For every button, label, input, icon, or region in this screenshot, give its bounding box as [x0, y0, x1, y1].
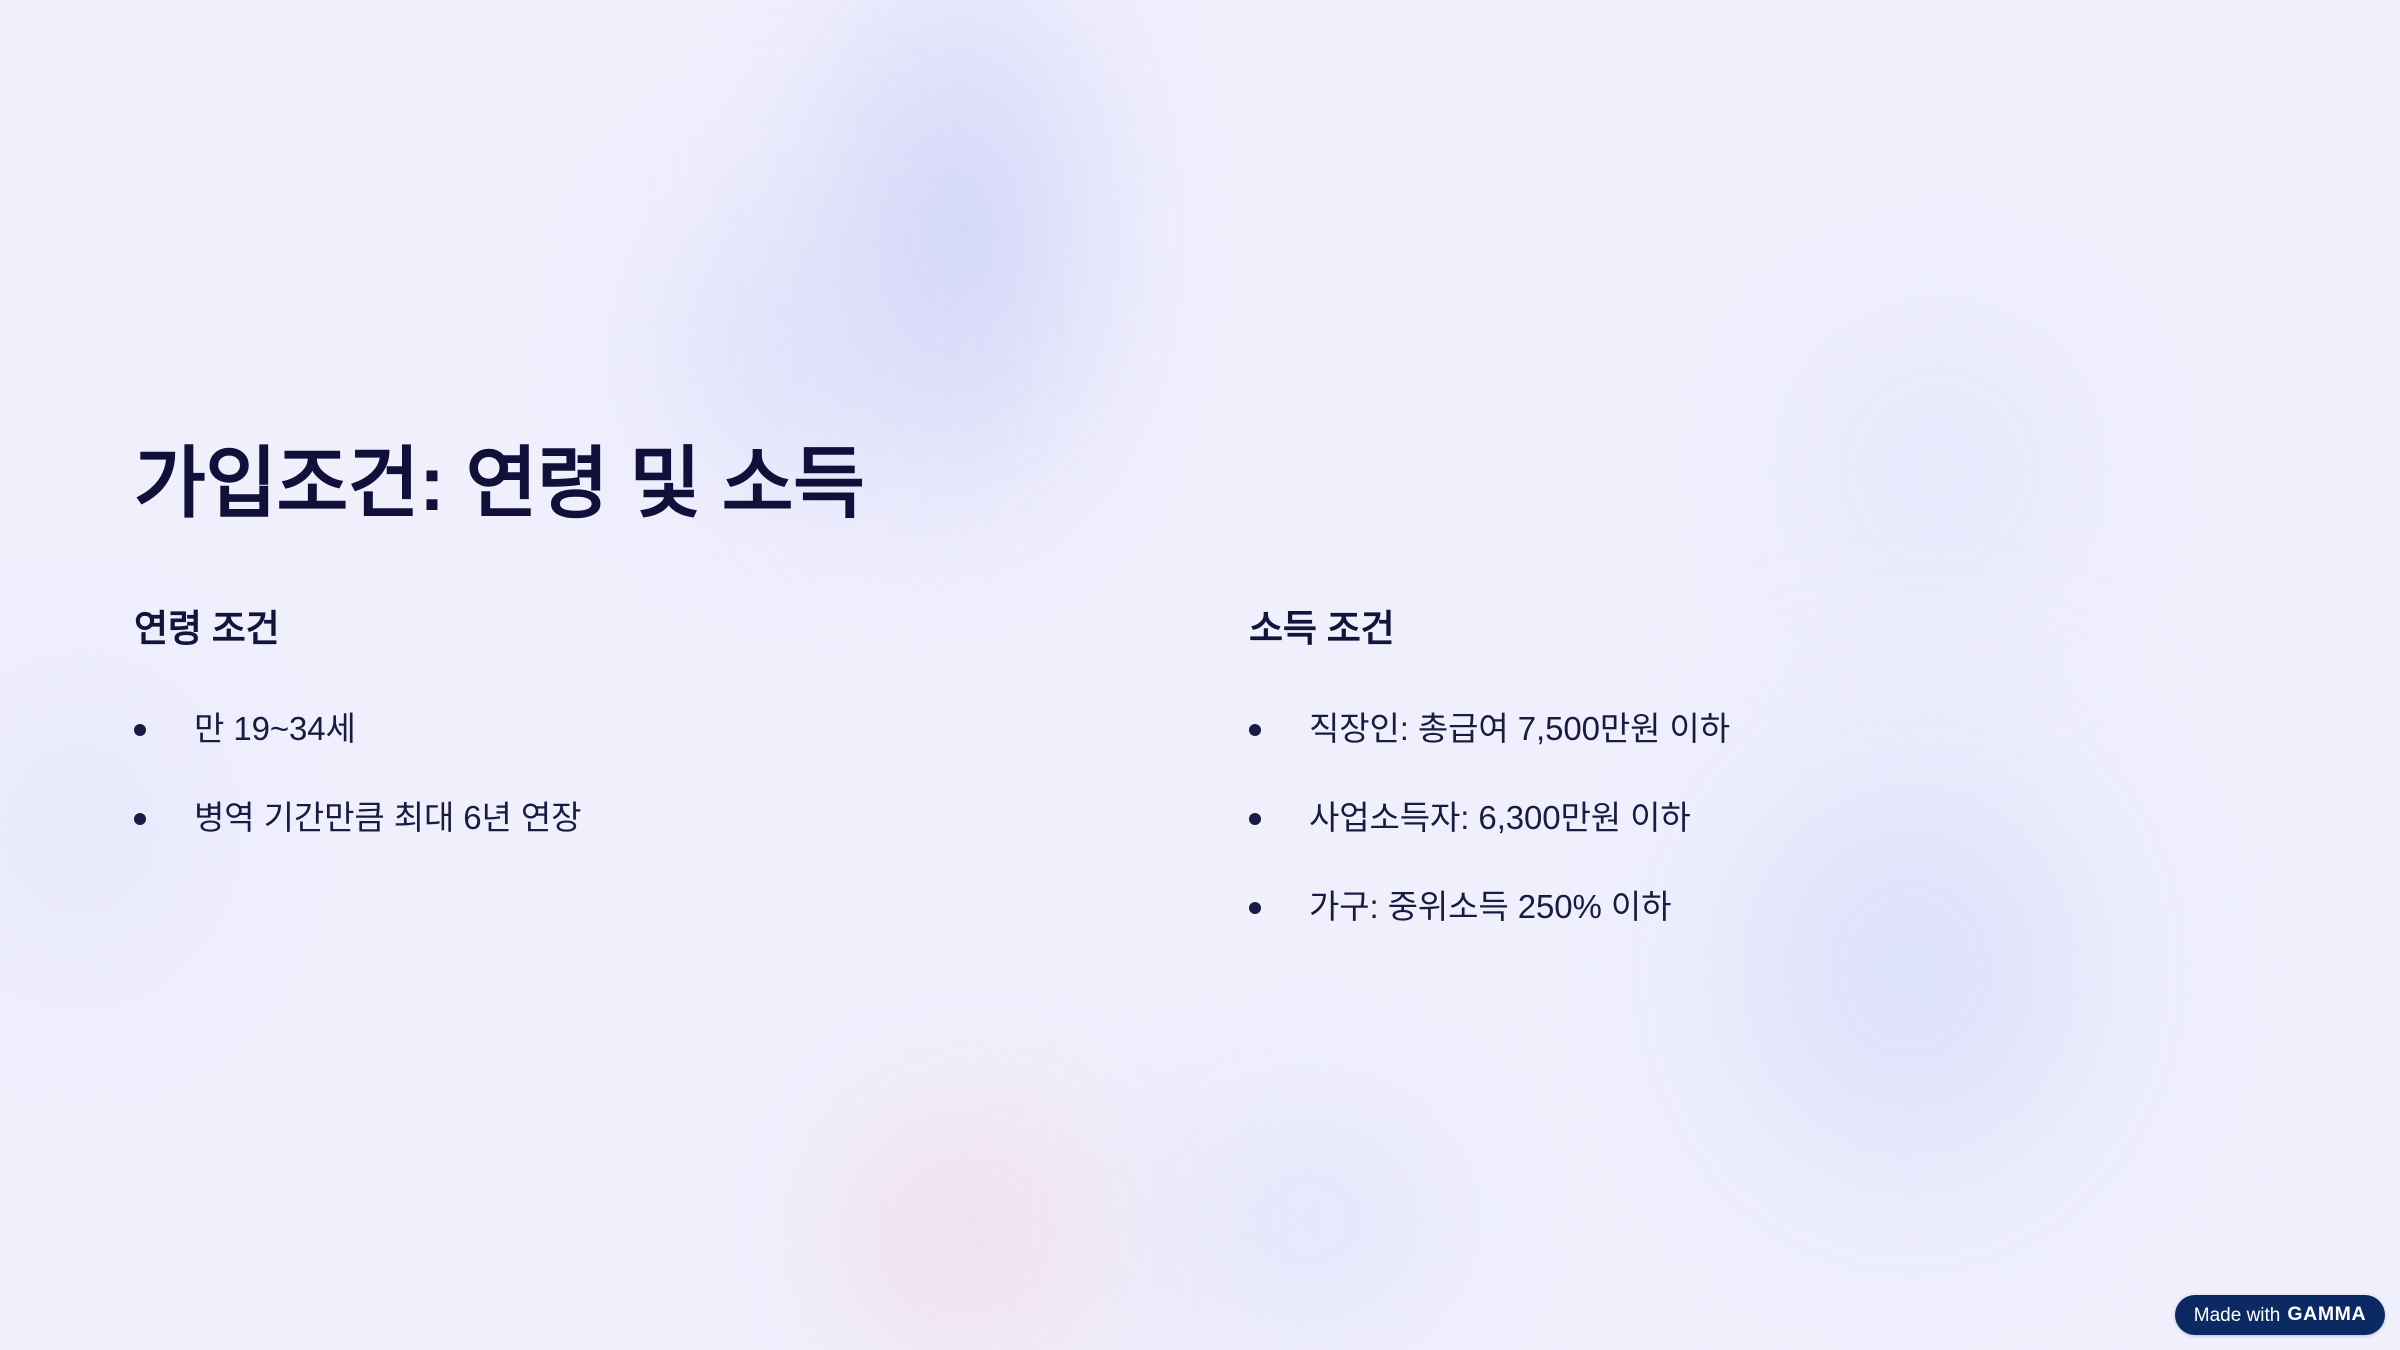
bullet-dot-icon	[1249, 902, 1261, 914]
list-item: 가구: 중위소득 250% 이하	[1249, 883, 2364, 931]
made-with-gamma-badge[interactable]: Made with GAMMA	[2175, 1295, 2385, 1335]
bullet-dot-icon	[1249, 724, 1261, 736]
bullet-list-income: 직장인: 총급여 7,500만원 이하 사업소득자: 6,300만원 이하 가구…	[1249, 705, 2364, 931]
list-item-label: 사업소득자: 6,300만원 이하	[1261, 794, 1691, 842]
list-item: 만 19~34세	[134, 705, 1249, 753]
bullet-list-age: 만 19~34세 병역 기간만큼 최대 6년 연장	[134, 705, 1249, 842]
column-heading-income: 소득 조건	[1249, 605, 2364, 653]
column-heading-age: 연령 조건	[134, 605, 1249, 653]
column-age-conditions: 연령 조건 만 19~34세 병역 기간만큼 최대 6년 연장	[134, 605, 1249, 931]
slide-canvas: 가입조건: 연령 및 소득 연령 조건 만 19~34세 병역 기간만큼 최대 …	[0, 0, 2400, 1350]
list-item-label: 직장인: 총급여 7,500만원 이하	[1261, 705, 1730, 753]
list-item: 병역 기간만큼 최대 6년 연장	[134, 794, 1249, 842]
gamma-logo-wordmark: GAMMA	[2287, 1305, 2366, 1325]
bullet-dot-icon	[1249, 813, 1261, 825]
badge-made-with-label: Made with	[2194, 1306, 2281, 1325]
list-item-label: 가구: 중위소득 250% 이하	[1261, 883, 1671, 931]
list-item-label: 병역 기간만큼 최대 6년 연장	[146, 794, 581, 842]
column-income-conditions: 소득 조건 직장인: 총급여 7,500만원 이하 사업소득자: 6,300만원…	[1249, 605, 2364, 931]
slide-content: 가입조건: 연령 및 소득 연령 조건 만 19~34세 병역 기간만큼 최대 …	[0, 0, 2400, 1350]
two-column-layout: 연령 조건 만 19~34세 병역 기간만큼 최대 6년 연장 소득 조건	[134, 605, 2264, 931]
list-item: 직장인: 총급여 7,500만원 이하	[1249, 705, 2364, 753]
page-title: 가입조건: 연령 및 소득	[134, 440, 864, 527]
bullet-dot-icon	[134, 813, 146, 825]
bullet-dot-icon	[134, 724, 146, 736]
list-item: 사업소득자: 6,300만원 이하	[1249, 794, 2364, 842]
list-item-label: 만 19~34세	[146, 705, 356, 753]
